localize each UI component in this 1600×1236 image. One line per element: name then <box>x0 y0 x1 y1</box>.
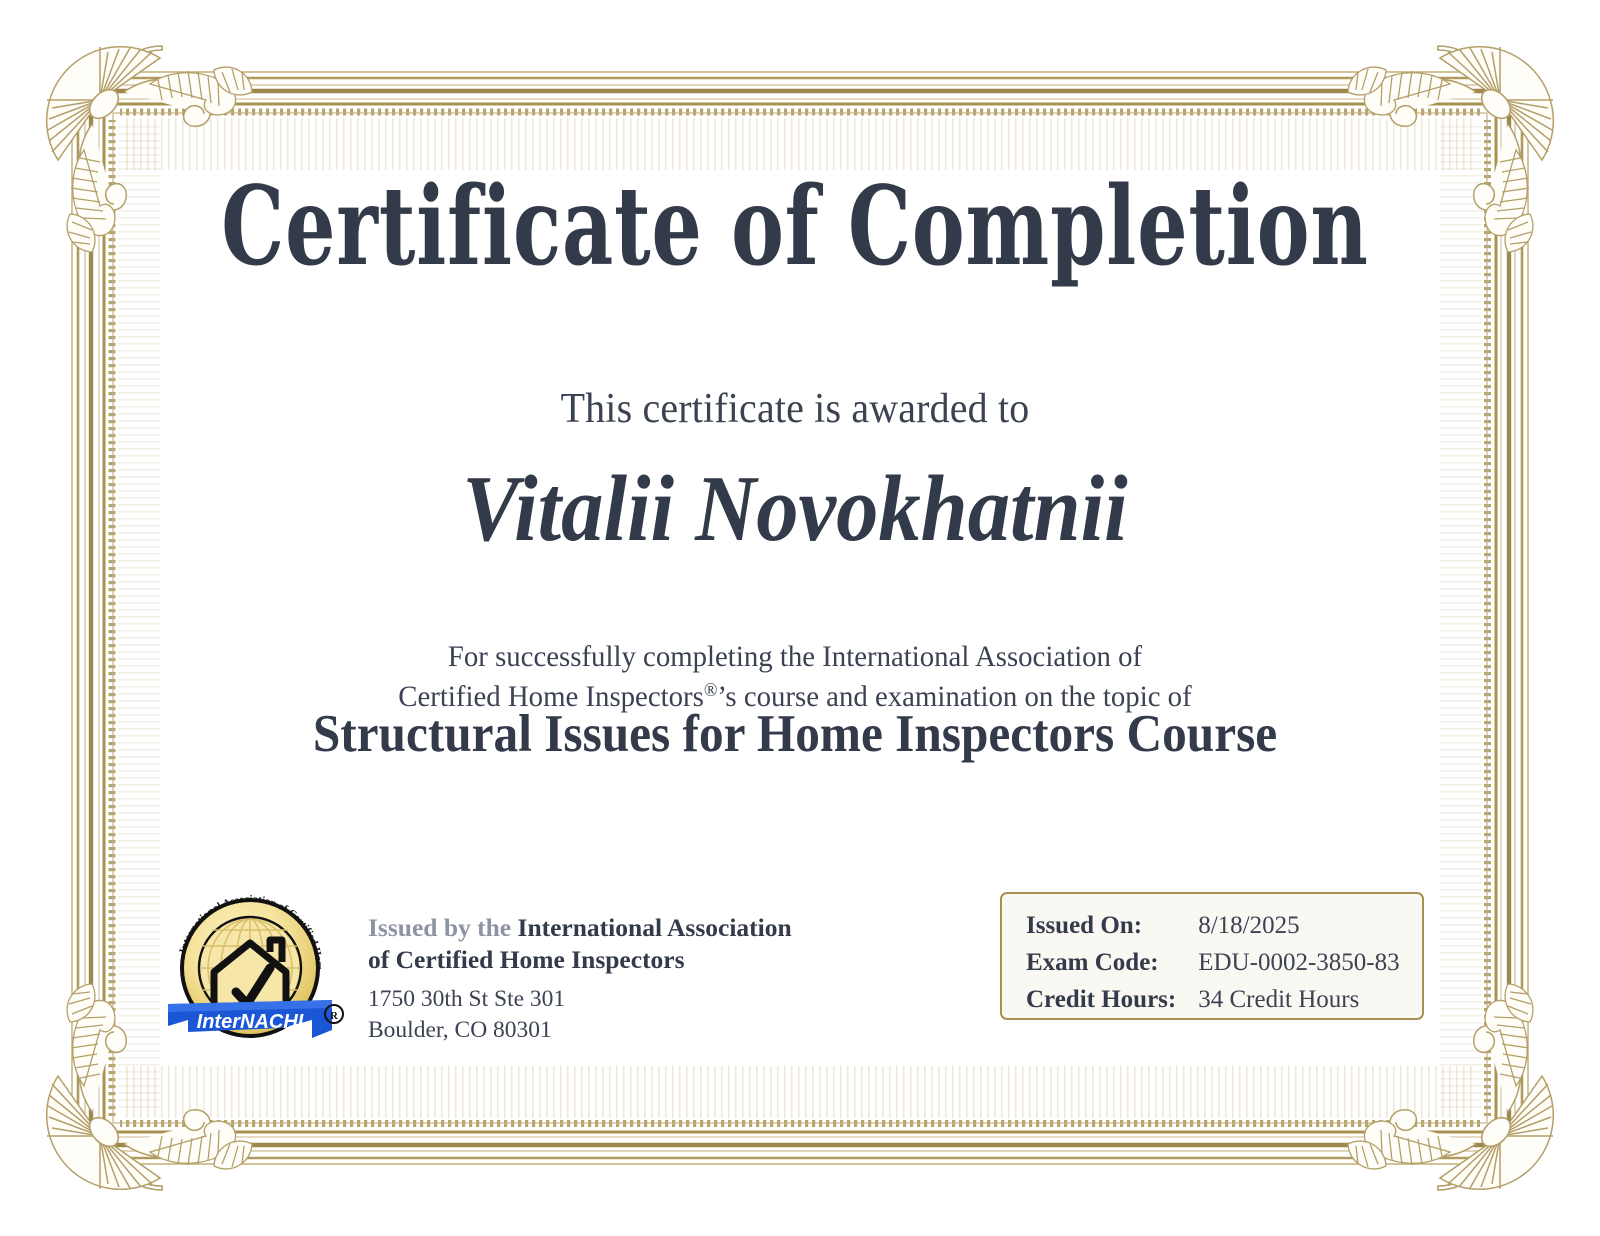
certificate-details-body: Issued On: 8/18/2025 Exam Code: EDU-0002… <box>1026 910 1400 1021</box>
internachi-seal-logo: International Association of Certified H… <box>162 880 352 1055</box>
page-title: Certificate of Completion <box>208 172 1383 281</box>
credit-hours-value: 34 Credit Hours <box>1198 984 1399 1021</box>
issuer-organization-line-2: of Certified Home Inspectors <box>368 945 685 974</box>
internachi-banner-text: InterNACHI <box>197 1011 304 1033</box>
completion-statement-line-1: For successfully completing the Internat… <box>139 637 1450 677</box>
certificate-details-table: Issued On: 8/18/2025 Exam Code: EDU-0002… <box>1026 910 1400 1021</box>
issuer-address: 1750 30th St Ste 301 Boulder, CO 80301 <box>368 984 828 1045</box>
certificate-document: Certificate of Completion This certifica… <box>0 0 1600 1236</box>
recipient-name: Vitalii Novokhatnii <box>180 460 1409 559</box>
table-row: Issued On: 8/18/2025 <box>1026 910 1400 947</box>
credit-hours-label: Credit Hours: <box>1026 984 1198 1021</box>
certificate-footer: International Association of Certified H… <box>112 880 1478 1080</box>
issued-on-label: Issued On: <box>1026 910 1198 947</box>
table-row: Credit Hours: 34 Credit Hours <box>1026 984 1400 1021</box>
certificate-details-box: Issued On: 8/18/2025 Exam Code: EDU-0002… <box>1000 892 1424 1020</box>
registered-mark: ® <box>704 680 718 701</box>
issued-on-value: 8/18/2025 <box>1198 910 1399 947</box>
exam-code-label: Exam Code: <box>1026 947 1198 984</box>
awarded-to-label: This certificate is awarded to <box>146 385 1444 433</box>
certificate-content: Certificate of Completion This certifica… <box>112 110 1478 1100</box>
issued-by-label: Issued by the <box>368 913 511 942</box>
issuer-address-line-1: 1750 30th St Ste 301 <box>368 984 828 1015</box>
issuer-organization-line-1: International Association <box>518 913 792 942</box>
table-row: Exam Code: EDU-0002-3850-83 <box>1026 947 1400 984</box>
course-title: Structural Issues for Home Inspectors Co… <box>160 705 1430 763</box>
issuer-address-line-2: Boulder, CO 80301 <box>368 1015 828 1046</box>
svg-text:R: R <box>330 1010 339 1022</box>
issuer-name: Issued by the International Associationo… <box>368 912 828 975</box>
issuer-block: Issued by the International Associationo… <box>368 912 828 1045</box>
exam-code-value: EDU-0002-3850-83 <box>1198 947 1399 984</box>
